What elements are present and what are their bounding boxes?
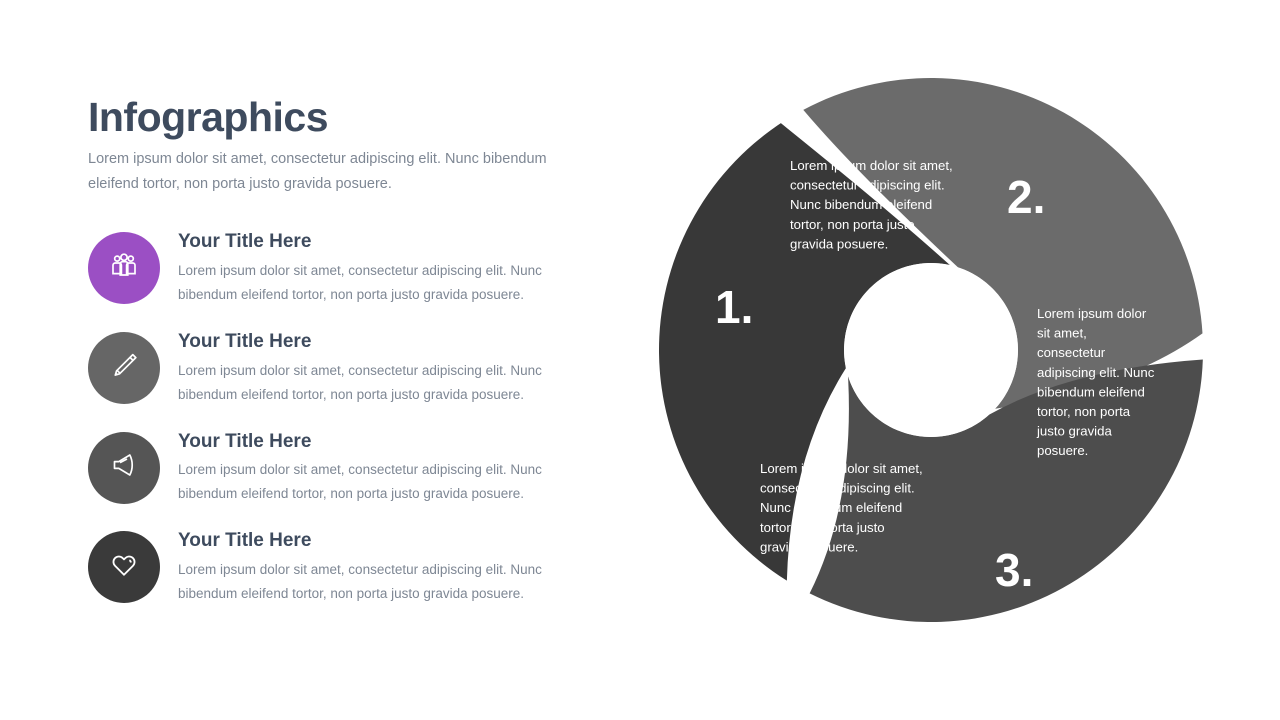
left-content-column: Infographics Lorem ipsum dolor sit amet,… [88, 96, 588, 628]
feature-text-3: Your Title Here Lorem ipsum dolor sit am… [178, 429, 586, 507]
feature-icon-circle-3[interactable] [88, 432, 160, 504]
people-group-icon [107, 248, 141, 287]
feature-item-2[interactable]: Your Title Here Lorem ipsum dolor sit am… [88, 329, 588, 407]
feature-desc-1: Lorem ipsum dolor sit amet, consectetur … [178, 259, 586, 307]
donut-number-2: 2. [1007, 171, 1045, 223]
pencil-icon [107, 348, 141, 387]
donut-number-3: 3. [995, 544, 1033, 596]
feature-title-1: Your Title Here [178, 231, 586, 254]
feature-item-4[interactable]: Your Title Here Lorem ipsum dolor sit am… [88, 528, 588, 606]
feature-item-1[interactable]: Your Title Here Lorem ipsum dolor sit am… [88, 229, 588, 307]
heart-icon [107, 548, 141, 587]
feature-icon-circle-4[interactable] [88, 531, 160, 603]
feature-text-1: Your Title Here Lorem ipsum dolor sit am… [178, 229, 586, 307]
feature-title-4: Your Title Here [178, 530, 586, 553]
feature-icon-circle-2[interactable] [88, 332, 160, 404]
feature-item-3[interactable]: Your Title Here Lorem ipsum dolor sit am… [88, 429, 588, 507]
feature-text-2: Your Title Here Lorem ipsum dolor sit am… [178, 329, 586, 407]
page-title: Infographics [88, 96, 588, 139]
feature-text-4: Your Title Here Lorem ipsum dolor sit am… [178, 528, 586, 606]
donut-number-1: 1. [715, 281, 753, 333]
feature-title-3: Your Title Here [178, 431, 586, 454]
feature-title-2: Your Title Here [178, 331, 586, 354]
feature-desc-2: Lorem ipsum dolor sit amet, consectetur … [178, 359, 586, 407]
feature-list: Your Title Here Lorem ipsum dolor sit am… [88, 229, 588, 606]
feature-icon-circle-1[interactable] [88, 232, 160, 304]
donut-svg: 1.Lorem ipsum dolor sit amet,consectetur… [655, 78, 1215, 638]
pinwheel-donut-chart: 1.Lorem ipsum dolor sit amet,consectetur… [655, 78, 1215, 638]
feature-desc-4: Lorem ipsum dolor sit amet, consectetur … [178, 558, 586, 606]
feature-desc-3: Lorem ipsum dolor sit amet, consectetur … [178, 458, 586, 506]
donut-center-hole [844, 263, 1018, 437]
megaphone-icon [107, 448, 141, 487]
page-subtitle: Lorem ipsum dolor sit amet, consectetur … [88, 147, 578, 197]
